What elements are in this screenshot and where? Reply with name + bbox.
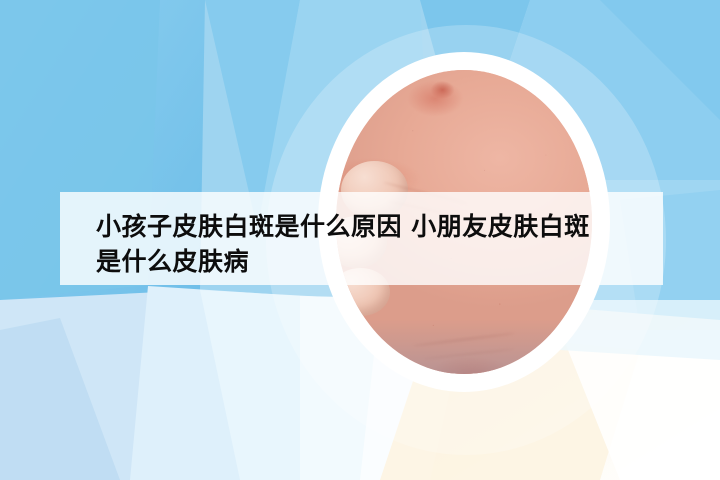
thumbnail-canvas: 小孩子皮肤白斑是什么原因 小朋友皮肤白斑是什么皮肤病 — [0, 0, 720, 480]
caption-line-2: 是什么皮肤病 — [96, 247, 249, 276]
caption-line-1: 小孩子皮肤白斑是什么原因 小朋友皮肤白斑 — [96, 212, 590, 241]
caption-title: 小孩子皮肤白斑是什么原因 小朋友皮肤白斑是什么皮肤病 — [96, 209, 656, 279]
photo-bottom-shadow — [336, 319, 592, 374]
